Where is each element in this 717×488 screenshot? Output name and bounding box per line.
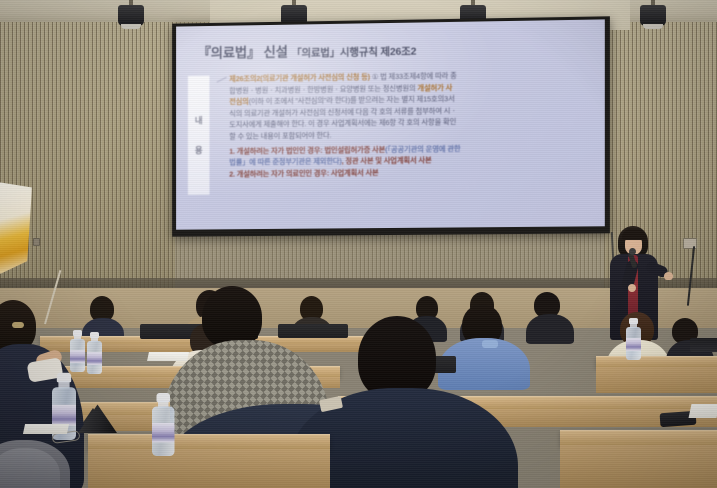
slide-side-tab: 내 용 [188,76,210,195]
side-tab-char-1: 내 [195,114,203,126]
water-bottle [626,318,641,360]
spotlight-icon [118,0,144,30]
seminar-photograph: 『의료법』 신설 「의료법」시행규칙 제26조2 내 용 제26조의2(의료기관… [0,0,717,488]
left-wall-slat-panel [0,18,175,308]
slide-title-main: 『의료법』 신설 [198,45,288,61]
slide-body: 제26조의2(의료기관 개설허가 사전심의 신청 등) ① 법 제33조제4항에… [229,68,581,180]
water-bottle [152,393,175,456]
korean-flag [0,182,32,274]
desk-row-3-right-front [596,367,717,393]
desk-row-1 [88,434,330,450]
handout-paper [147,352,189,361]
presenter-left-hand [628,284,636,292]
slide-pen-mark [215,73,227,82]
spotlight-icon [640,0,666,30]
water-bottle [87,332,102,374]
attendee-collar [482,340,498,348]
wall-outlet [33,238,40,246]
desk-panel [278,324,348,338]
attendee-hair-clip [12,322,24,328]
presenter-right-hand [664,272,673,280]
side-tab-char-2: 용 [195,144,203,156]
desk-row-1-front [88,449,330,488]
attendee-shoulders [526,314,574,344]
handout-paper [689,404,717,418]
handout-paper [23,424,69,434]
laptop [690,338,717,352]
water-bottle [70,330,85,372]
projection-screen: 『의료법』 신설 「의료법」시행규칙 제26조2 내 용 제26조의2(의료기관… [172,16,610,236]
slide-title: 『의료법』 신설 「의료법」시행규칙 제26조2 [198,39,417,62]
desk-row-1-right [560,430,717,446]
presenter-bangs [622,229,646,240]
attendee-head [202,286,262,348]
microphone-head [629,248,636,255]
desk-row-1-right-front [560,445,717,488]
slide-title-sub: 「의료법」시행규칙 제26조2 [291,46,416,60]
